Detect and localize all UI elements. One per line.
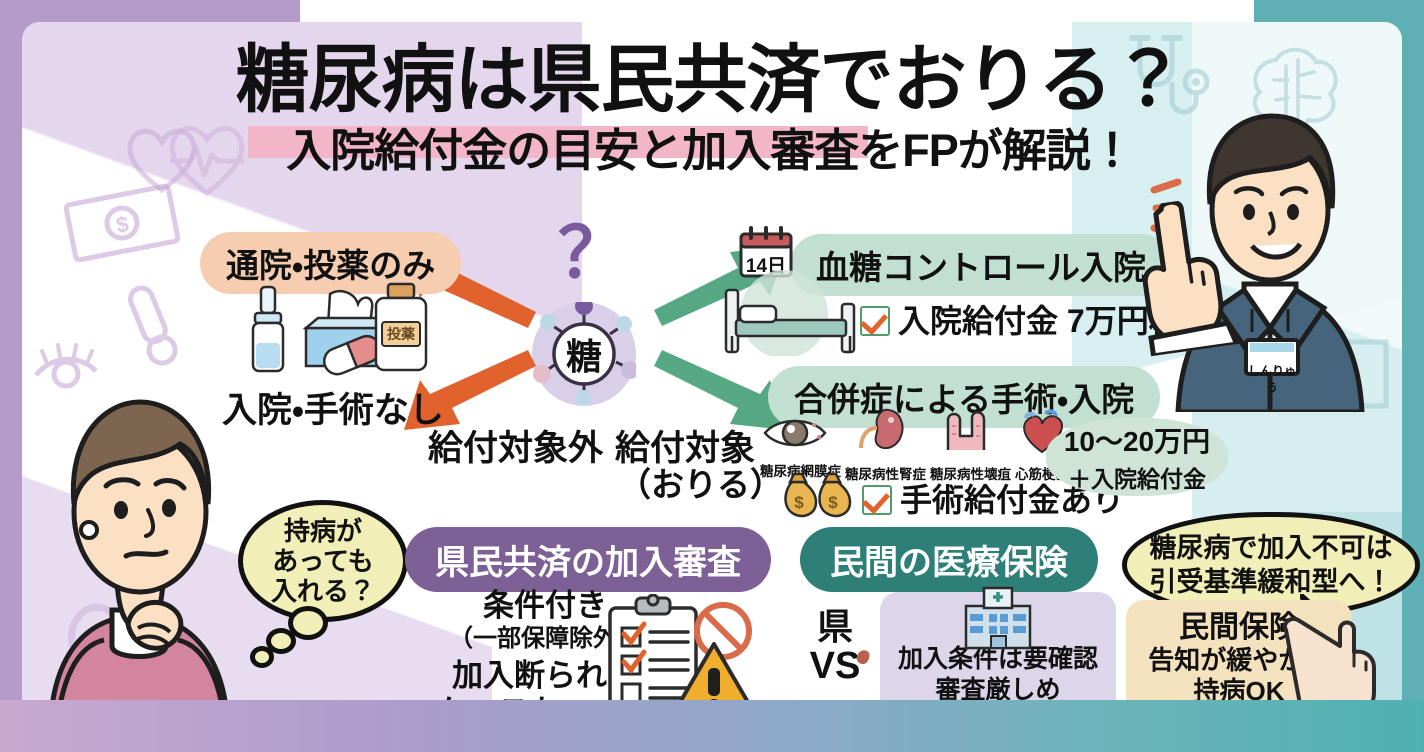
diabetes-virus-icon: 糖: [532, 302, 636, 406]
page-subtitle: 入院給付金の目安と加入審査をFPが解説！: [230, 126, 1190, 176]
intestine-icon: [930, 408, 1002, 459]
thought-line2: あっても: [271, 546, 375, 576]
callout-bubble-line2: 引受基準緩和型へ！: [1150, 565, 1393, 599]
hospital-building-icon: [962, 584, 1034, 655]
complication-item-2: 糖尿病性壊疽: [930, 408, 1002, 483]
hospital-bed-icon: [718, 270, 868, 361]
surgery-cost-line1: 10〜20万円: [1064, 420, 1210, 460]
minkan-pill: 民間の医療保険: [800, 527, 1098, 592]
kidney-icon: [845, 408, 917, 459]
medicine-bottle-label: 投薬: [376, 324, 426, 344]
page-title: 糖尿病は県民共済でおりる？: [230, 40, 1190, 120]
svg-text:$: $: [114, 211, 131, 238]
title-block: 糖尿病は県民共済でおりる？ 入院給付金の目安と加入審査をFPが解説！: [230, 40, 1190, 176]
surgery-cost-bubble: 10〜20万円 ＋入院給付金: [1046, 418, 1228, 496]
infographic-canvas: $ $ 糖尿病は県民共済でおりる？ 入院給付金の目安と加入審査をFPが解説！ ？: [0, 0, 1424, 752]
vs-block: 県 VS: [795, 608, 875, 686]
surgery-cost-line2: ＋入院給付金: [1068, 460, 1206, 494]
money-bag-icon: $ $: [778, 470, 856, 525]
check-icon: [862, 485, 892, 515]
nasal-spray-icon: [245, 285, 293, 380]
medicine-bottle-icon: 投薬: [370, 282, 432, 379]
eye-icon: [760, 415, 830, 456]
kenmin-pill: 県民共済の加入審査: [405, 527, 771, 592]
fp-badge-text: しんりゅう: [1246, 362, 1298, 396]
thought-line3: 入れる？: [271, 576, 375, 606]
minkan-pill-label: 民間の医療保険: [800, 527, 1098, 592]
branch-result-left: 給付対象外: [428, 420, 603, 471]
branch-result-right-line2: （おりる）: [618, 458, 783, 506]
svg-text:$: $: [794, 493, 804, 512]
vs-ken-label: 県: [795, 608, 875, 646]
svg-text:$: $: [828, 493, 838, 512]
worried-woman-illustration: [20, 378, 270, 743]
check-icon: [860, 306, 890, 336]
thought-line1: 持病が: [271, 516, 375, 546]
virus-label: 糖: [532, 328, 636, 380]
bottom-gradient-bar: [0, 700, 1424, 752]
question-mark: ？: [558, 222, 628, 284]
callout-bubble-line1: 糖尿病で加入不可は: [1150, 531, 1393, 565]
fp-pointing-hand-icon: [1125, 193, 1256, 362]
kenmin-pill-label: 県民共済の加入審査: [405, 527, 771, 592]
